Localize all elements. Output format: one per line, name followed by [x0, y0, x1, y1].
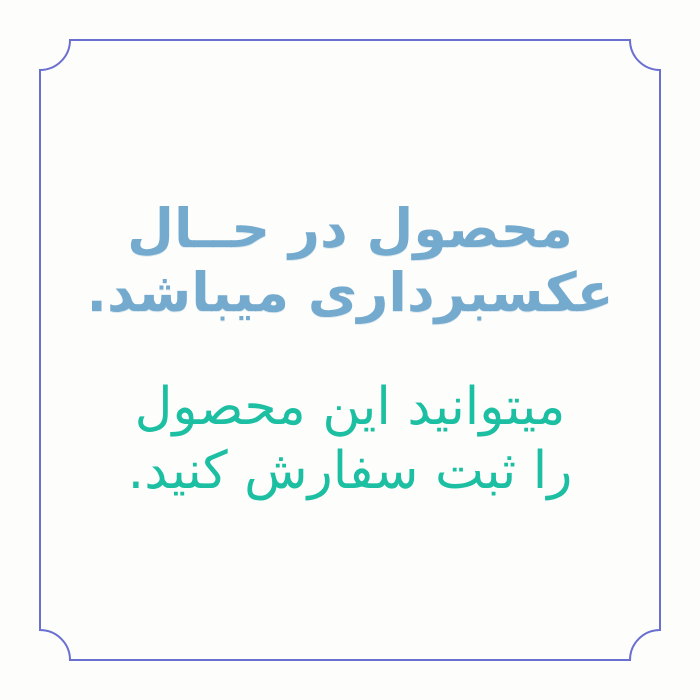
- status-message-line-2: عکسبرداری میباشد.: [64, 261, 636, 325]
- message-stack: محصول در حــال عکسبرداری میباشد. میتوانی…: [0, 0, 700, 700]
- order-message-line-2: را ثبت سفارش کنید.: [64, 440, 636, 503]
- order-message-line-1: میتوانید این محصول: [64, 376, 636, 439]
- product-placeholder-card: محصول در حــال عکسبرداری میباشد. میتوانی…: [0, 0, 700, 700]
- status-message: محصول در حــال عکسبرداری میباشد.: [64, 197, 636, 324]
- order-message: میتوانید این محصول را ثبت سفارش کنید.: [64, 376, 636, 503]
- status-message-line-1: محصول در حــال: [64, 197, 636, 261]
